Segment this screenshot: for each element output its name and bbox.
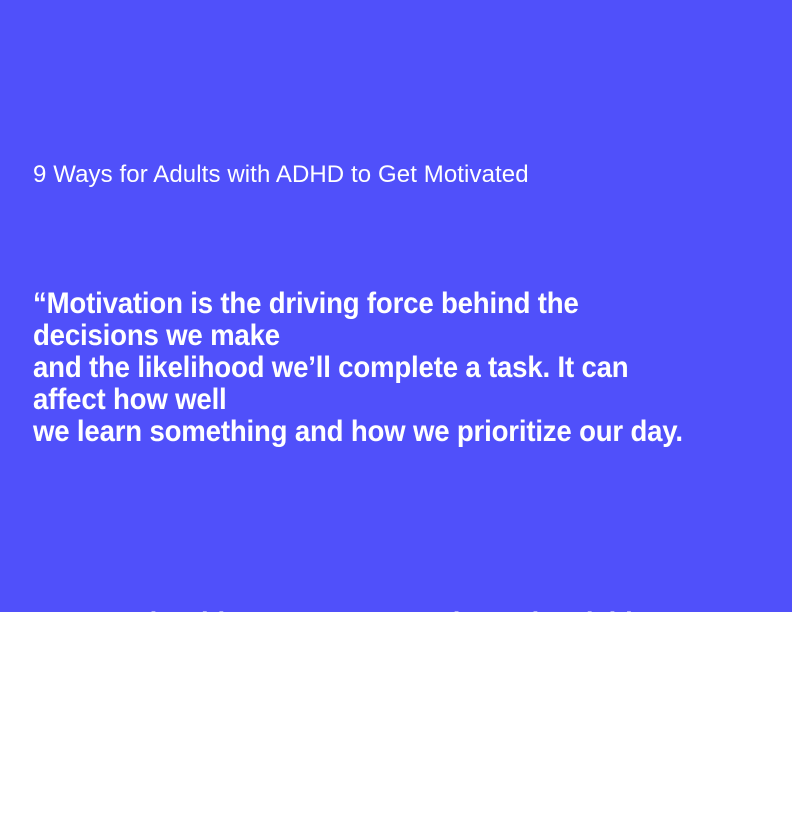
slide-canvas: 9 Ways for Adults with ADHD to Get Motiv… [0,0,792,612]
slide-content: 9 Ways for Adults with ADHD to Get Motiv… [33,160,743,832]
quote-paragraph-2: For people with ADHD, some tasks and act… [33,608,686,768]
page-title: 9 Ways for Adults with ADHD to Get Motiv… [33,160,743,190]
paragraph-spacer [33,512,686,544]
quote-paragraph-1: “Motivation is the driving force behind … [33,288,686,448]
quote-block: “Motivation is the driving force behind … [33,224,686,832]
